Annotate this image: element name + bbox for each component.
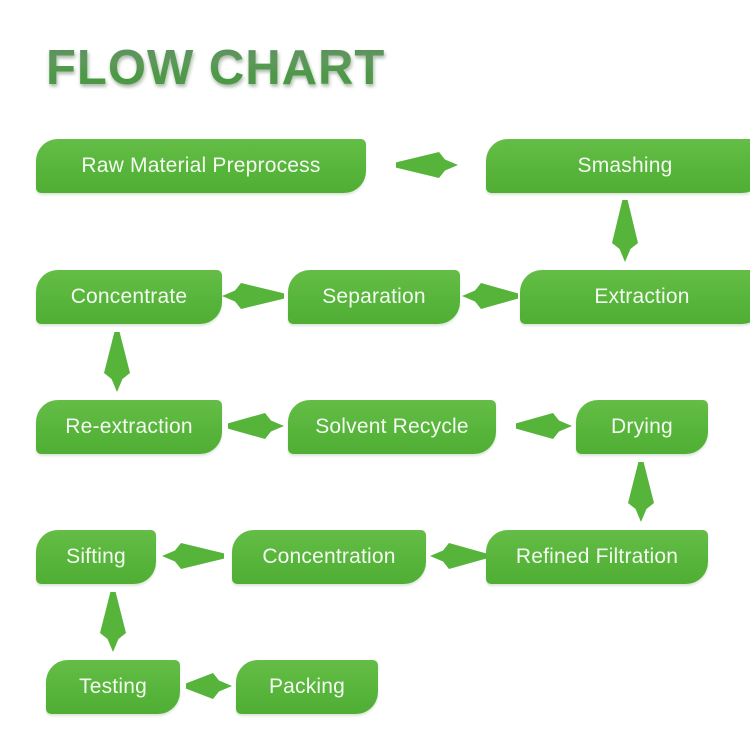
flow-node-separation[interactable]: Separation xyxy=(288,270,460,324)
flow-node-re-extraction[interactable]: Re-extraction xyxy=(36,400,222,454)
flow-node-testing[interactable]: Testing xyxy=(46,660,180,714)
flow-node-drying[interactable]: Drying xyxy=(576,400,708,454)
flow-node-label: Extraction xyxy=(594,286,689,307)
flow-node-label: Solvent Recycle xyxy=(315,416,469,437)
flow-node-smashing[interactable]: Smashing xyxy=(486,139,750,193)
page-title: FLOW CHART xyxy=(46,44,385,93)
flow-arrow-smashing-to-extraction xyxy=(612,200,638,262)
flow-arrow-drying-to-refined-filtration xyxy=(628,462,654,522)
flow-arrow-testing-to-packing xyxy=(186,673,232,699)
flow-node-refined-filtration[interactable]: Refined Filtration xyxy=(486,530,708,584)
flow-node-concentration[interactable]: Concentration xyxy=(232,530,426,584)
flow-arrow-sifting-to-testing xyxy=(100,592,126,652)
flow-node-label: Testing xyxy=(79,676,147,697)
flow-node-label: Packing xyxy=(269,676,345,697)
flow-node-label: Separation xyxy=(322,286,426,307)
flow-node-label: Concentrate xyxy=(71,286,188,307)
flow-node-concentrate[interactable]: Concentrate xyxy=(36,270,222,324)
flow-arrow-raw-material-preprocess-to-smashing xyxy=(396,152,458,178)
flow-node-label: Re-extraction xyxy=(65,416,192,437)
flow-arrow-extraction-to-separation xyxy=(462,283,518,309)
flow-node-label: Drying xyxy=(611,416,673,437)
flow-node-packing[interactable]: Packing xyxy=(236,660,378,714)
flow-node-extraction[interactable]: Extraction xyxy=(520,270,750,324)
flow-arrow-separation-to-concentrate xyxy=(222,283,284,309)
flow-node-sifting[interactable]: Sifting xyxy=(36,530,156,584)
flow-arrow-refined-filtration-to-concentration xyxy=(430,543,486,569)
flow-arrow-solvent-recycle-to-drying xyxy=(516,413,572,439)
flow-node-label: Raw Material Preprocess xyxy=(81,155,320,176)
flow-node-raw-material-preprocess[interactable]: Raw Material Preprocess xyxy=(36,139,366,193)
flow-node-label: Refined Filtration xyxy=(516,546,678,567)
flow-arrow-re-extraction-to-solvent-recycle xyxy=(228,413,284,439)
flow-node-label: Smashing xyxy=(578,155,673,176)
flow-node-label: Concentration xyxy=(262,546,395,567)
flow-node-solvent-recycle[interactable]: Solvent Recycle xyxy=(288,400,496,454)
flow-node-label: Sifting xyxy=(66,546,126,567)
flow-chart-canvas: FLOW CHART FLOW CHART Raw Material Prepr… xyxy=(0,0,750,749)
flow-arrow-concentrate-to-re-extraction xyxy=(104,332,130,392)
flow-arrow-concentration-to-sifting xyxy=(162,543,224,569)
